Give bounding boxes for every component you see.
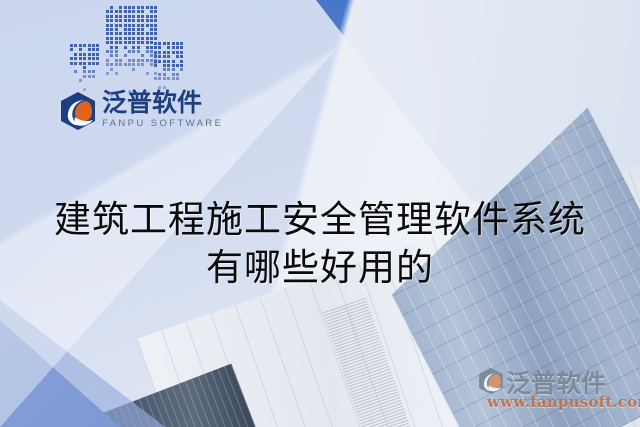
banner-headline: 建筑工程施工安全管理软件系统 有哪些好用的: [0, 196, 640, 292]
watermark-url: www.fanpusoft.com: [487, 393, 640, 411]
brand-logo-text: 泛普软件 FANPU SOFTWARE: [102, 89, 223, 129]
promo-banner: 泛普软件 FANPU SOFTWARE 建筑工程施工安全管理软件系统 有哪些好用…: [0, 0, 640, 427]
watermark-fanpu-hexagon-swoosh-icon: [476, 367, 506, 395]
pixel-skyline-icon: [70, 4, 190, 96]
brand-logo: 泛普软件 FANPU SOFTWARE: [58, 90, 198, 134]
headline-line-1: 建筑工程施工安全管理软件系统: [0, 196, 640, 244]
headline-line-2: 有哪些好用的: [0, 244, 640, 292]
site-watermark: 泛普软件 www.fanpusoft.com: [476, 365, 632, 415]
brand-name-cn: 泛普软件: [102, 89, 223, 117]
brand-name-en: FANPU SOFTWARE: [102, 118, 223, 129]
fanpu-hexagon-swoosh-icon: [58, 91, 98, 131]
